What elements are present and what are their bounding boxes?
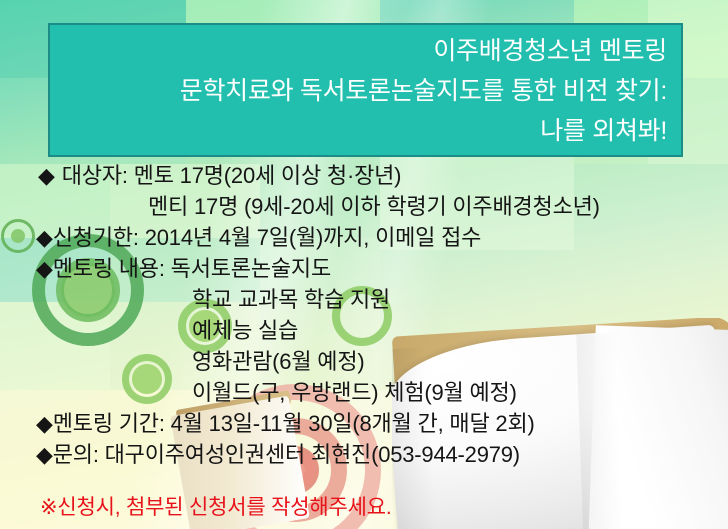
title-text-group: 이주배경청소년 멘토링 문학치료와 독서토론논술지도를 통한 비전 찾기: 나를… [50, 25, 681, 151]
body-line: 학교 교과목 학습 지원 [0, 284, 728, 315]
body-line: ◆멘토링 기간: 4월 13일-11월 30일(8개월 간, 매달 2회) [0, 408, 728, 439]
body-line-text: 문의: 대구이주여성인권센터 최현진(053-944-2979) [53, 442, 520, 467]
poster-canvas: 이주배경청소년 멘토링 문학치료와 독서토론논술지도를 통한 비전 찾기: 나를… [0, 0, 728, 529]
note-line: ※신청시, 첨부된 신청서를 작성해주세요. [0, 492, 728, 523]
note-text: 신청시, 첨부된 신청서를 작성해주세요. [57, 496, 391, 519]
body-line-text: 멘티 17명 (9세-20세 이하 학령기 이주배경청소년) [148, 194, 600, 219]
body-line-text: 학교 교과목 학습 지원 [192, 287, 390, 312]
body-line-text: 신청기한: 2014년 4월 7일(월)까지, 이메일 접수 [53, 225, 481, 250]
body-line: 예체능 실습 [0, 315, 728, 346]
body-line: ◆문의: 대구이주여성인권센터 최현진(053-944-2979) [0, 439, 728, 470]
body-line-text: 영화관람(6월 예정) [192, 349, 364, 374]
diamond-bullet-icon: ◆ [38, 160, 55, 191]
body-line: 이월드(구, 우방랜드) 체험(9월 예정) [0, 377, 728, 408]
body-line: 멘티 17명 (9세-20세 이하 학령기 이주배경청소년) [0, 191, 728, 222]
note-spacer [0, 470, 728, 492]
body-line-text: 대상자: 멘토 17명(20세 이상 청·장년) [62, 163, 402, 188]
diamond-bullet-icon: ◆ [36, 439, 53, 470]
diamond-bullet-icon: ◆ [36, 408, 53, 439]
diamond-bullet-icon: ◆ [36, 253, 53, 284]
body-line-text: 예체능 실습 [192, 318, 298, 343]
title-banner: 이주배경청소년 멘토링 문학치료와 독서토론논술지도를 통한 비전 찾기: 나를… [48, 23, 683, 157]
title-line-3: 나를 외쳐봐! [64, 111, 667, 151]
body-text-block: ◆대상자: 멘토 17명(20세 이상 청·장년)멘티 17명 (9세-20세 … [0, 160, 728, 523]
body-line: ◆대상자: 멘토 17명(20세 이상 청·장년) [0, 160, 728, 191]
body-line: 영화관람(6월 예정) [0, 346, 728, 377]
body-line-text: 이월드(구, 우방랜드) 체험(9월 예정) [192, 380, 517, 405]
body-line-text: 멘토링 기간: 4월 13일-11월 30일(8개월 간, 매달 2회) [53, 411, 535, 436]
reference-mark-icon: ※ [40, 496, 57, 519]
title-line-1: 이주배경청소년 멘토링 [64, 31, 667, 71]
diamond-bullet-icon: ◆ [36, 222, 53, 253]
body-line: ◆멘토링 내용: 독서토론논술지도 [0, 253, 728, 284]
title-line-2: 문학치료와 독서토론논술지도를 통한 비전 찾기: [64, 71, 667, 111]
body-line-text: 멘토링 내용: 독서토론논술지도 [53, 256, 331, 281]
body-line: ◆신청기한: 2014년 4월 7일(월)까지, 이메일 접수 [0, 222, 728, 253]
